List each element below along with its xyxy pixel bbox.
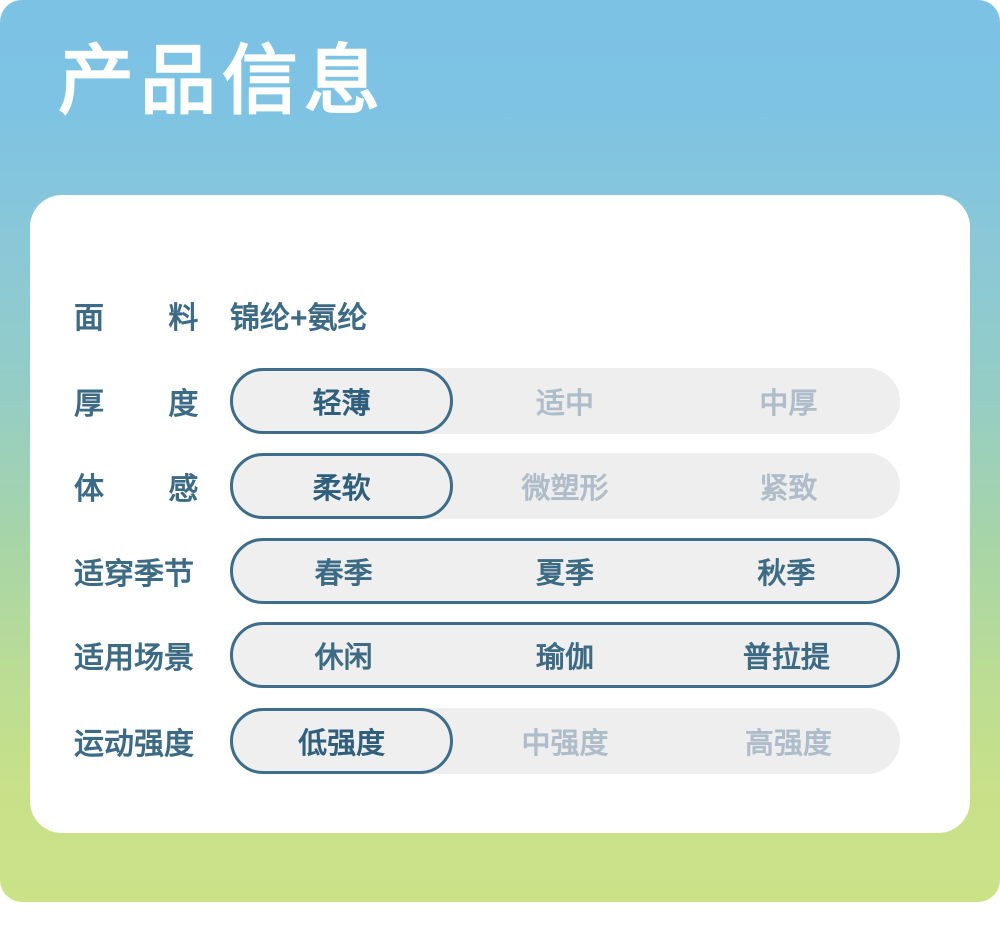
option-track: 柔软微塑形紧致柔软 bbox=[230, 453, 900, 519]
option-selected[interactable]: 春季 bbox=[233, 541, 454, 601]
spec-row: 厚 度轻薄适中中厚轻薄 bbox=[30, 368, 970, 434]
option-unselected[interactable]: 中强度 bbox=[453, 708, 676, 774]
option-selected[interactable]: 秋季 bbox=[676, 541, 897, 601]
selected-option-pill[interactable]: 轻薄 bbox=[230, 368, 453, 434]
selected-option-pill[interactable]: 低强度 bbox=[230, 708, 453, 774]
option-track: 春季夏季秋季 bbox=[230, 538, 900, 604]
spec-row-label: 适穿季节 bbox=[30, 549, 230, 593]
option-selected[interactable]: 普拉提 bbox=[676, 625, 897, 685]
option-selected[interactable]: 夏季 bbox=[454, 541, 675, 601]
spec-row: 体 感柔软微塑形紧致柔软 bbox=[30, 453, 970, 519]
option-unselected[interactable]: 紧致 bbox=[677, 453, 900, 519]
page-title: 产品信息 bbox=[58, 34, 386, 129]
selected-option-pill[interactable]: 柔软 bbox=[230, 453, 453, 519]
spec-row-label: 厚 度 bbox=[30, 379, 230, 423]
spec-row-label: 适用场景 bbox=[30, 633, 230, 677]
option-unselected[interactable]: 适中 bbox=[453, 368, 676, 434]
spec-row-value: 锦纶+氨纶 bbox=[230, 293, 368, 337]
spec-row: 适穿季节春季夏季秋季 bbox=[30, 538, 970, 604]
option-track: 休闲瑜伽普拉提 bbox=[230, 622, 900, 688]
option-unselected[interactable]: 微塑形 bbox=[453, 453, 676, 519]
option-track: 低强度中强度高强度低强度 bbox=[230, 708, 900, 774]
spec-row: 适用场景休闲瑜伽普拉提 bbox=[30, 622, 970, 688]
spec-row-label: 面 料 bbox=[30, 293, 230, 337]
option-track: 轻薄适中中厚轻薄 bbox=[230, 368, 900, 434]
option-selected[interactable]: 瑜伽 bbox=[454, 625, 675, 685]
spec-row: 面 料锦纶+氨纶 bbox=[30, 282, 970, 348]
option-unselected[interactable]: 中厚 bbox=[677, 368, 900, 434]
option-selected[interactable]: 休闲 bbox=[233, 625, 454, 685]
spec-card: 面 料锦纶+氨纶厚 度轻薄适中中厚轻薄体 感柔软微塑形紧致柔软适穿季节春季夏季秋… bbox=[30, 195, 970, 833]
spec-row: 运动强度低强度中强度高强度低强度 bbox=[30, 708, 970, 774]
product-info-banner: 产品信息 面 料锦纶+氨纶厚 度轻薄适中中厚轻薄体 感柔软微塑形紧致柔软适穿季节… bbox=[0, 0, 1000, 902]
spec-row-label: 体 感 bbox=[30, 464, 230, 508]
spec-row-label: 运动强度 bbox=[30, 719, 230, 763]
option-unselected[interactable]: 高强度 bbox=[677, 708, 900, 774]
